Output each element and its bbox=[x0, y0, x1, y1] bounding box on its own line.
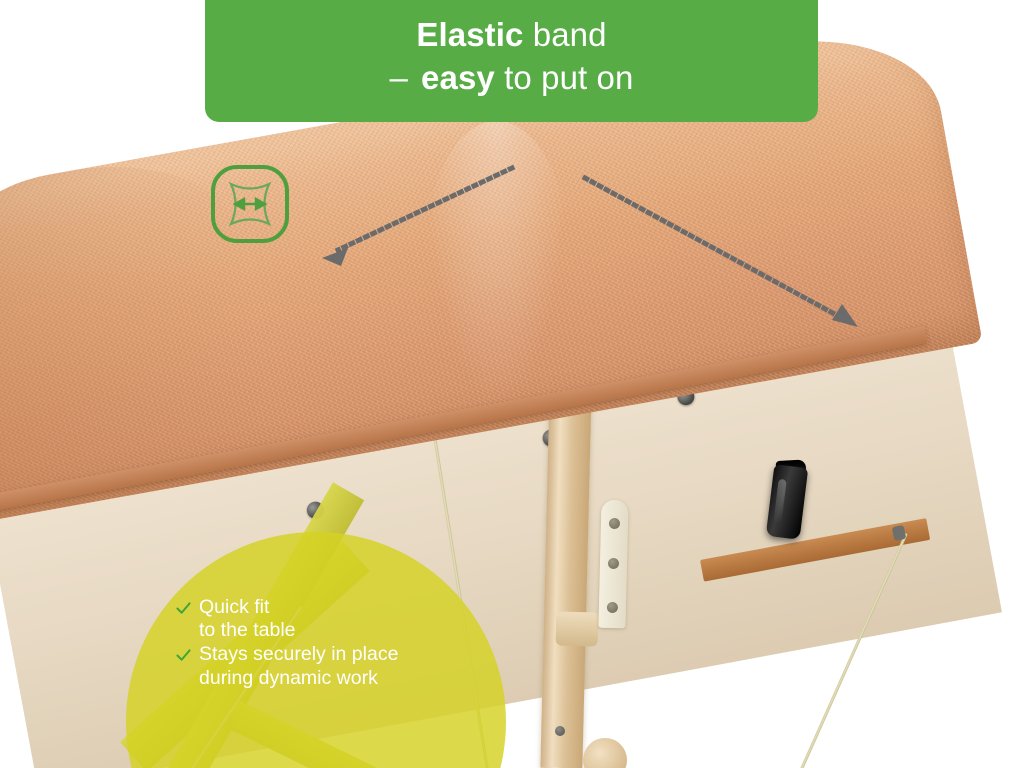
headline-line-2: – easy to put on bbox=[390, 57, 634, 100]
check-icon bbox=[176, 648, 191, 663]
feature-bullet-text: Stays securely in place during dynamic w… bbox=[199, 643, 398, 689]
icon-double-arrow bbox=[235, 199, 265, 209]
headline-dash: – bbox=[390, 59, 422, 96]
bracket-hole bbox=[608, 558, 619, 569]
bracket-hole bbox=[607, 602, 618, 613]
feature-bullet-list: Quick fit to the table Stays securely in… bbox=[176, 596, 476, 691]
headline-line-2-rest: to put on bbox=[495, 59, 634, 96]
headline-text: Elastic band – easy to put on bbox=[390, 14, 634, 99]
metal-bracket bbox=[598, 500, 628, 629]
bracket-hole bbox=[609, 518, 620, 529]
headline-line-1-bold: Elastic bbox=[416, 16, 523, 53]
cable-clip bbox=[892, 525, 907, 541]
check-icon bbox=[176, 601, 191, 616]
feature-bullet-item: Stays securely in place during dynamic w… bbox=[176, 643, 476, 689]
table-leg-joint bbox=[556, 611, 599, 646]
table-leg-pivot bbox=[583, 738, 627, 768]
headline-line-1: Elastic band bbox=[390, 14, 634, 57]
leg-screw bbox=[555, 726, 565, 736]
headline-line-2-bold: easy bbox=[421, 59, 495, 96]
headline-line-1-rest: band bbox=[524, 16, 607, 53]
cover-crease bbox=[422, 120, 573, 421]
stretch-elastic-icon bbox=[206, 160, 294, 248]
product-feature-image: Elastic band – easy to put on Quick fit … bbox=[0, 0, 1024, 768]
feature-bullet-text: Quick fit to the table bbox=[199, 596, 296, 642]
headline-banner: Elastic band – easy to put on bbox=[205, 0, 818, 122]
feature-bullet-item: Quick fit to the table bbox=[176, 596, 476, 642]
